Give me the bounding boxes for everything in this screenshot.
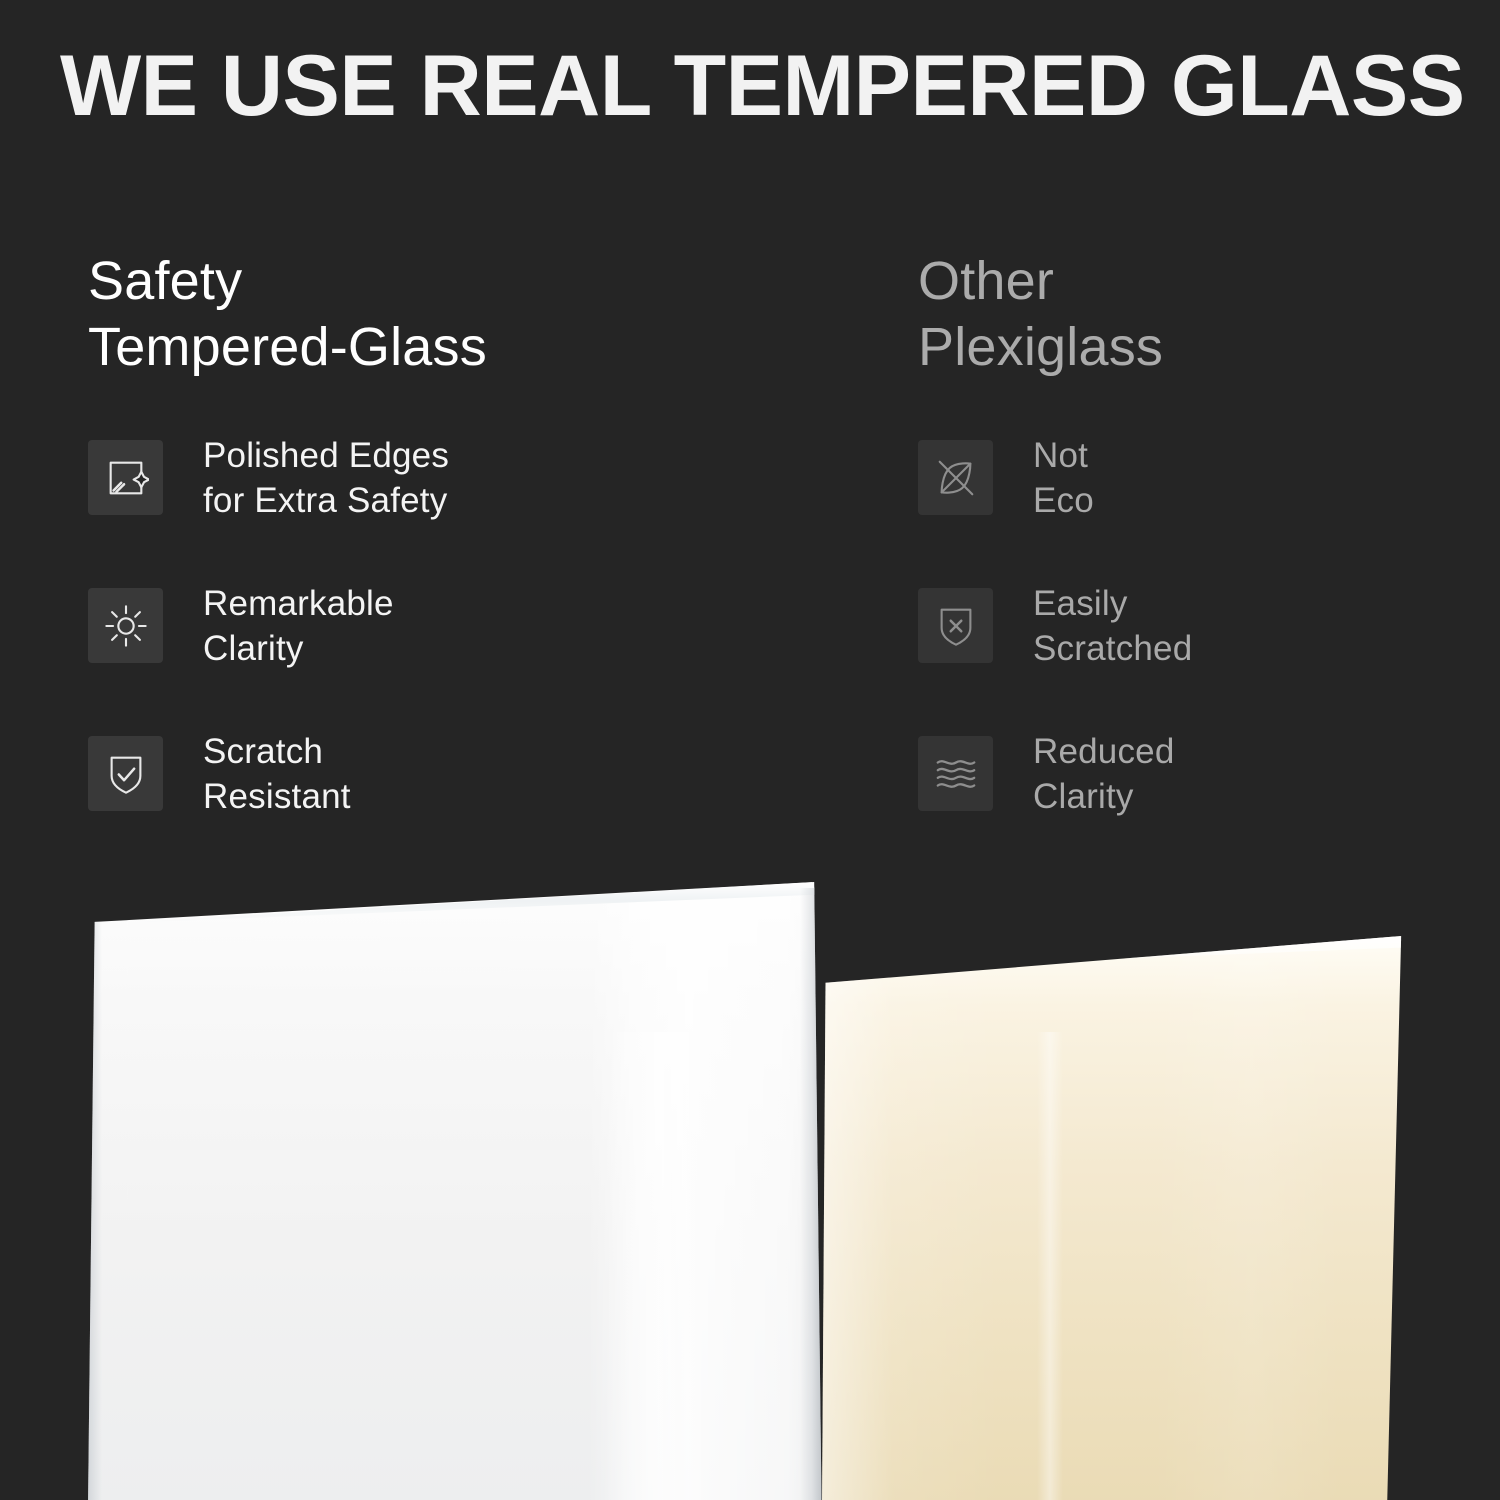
feature-row: Polished Edges for Extra Safety: [88, 440, 848, 515]
feature-row: Scratch Resistant: [88, 736, 848, 811]
infographic-canvas: WE USE REAL TEMPERED GLASS Safety Temper…: [0, 0, 1500, 1500]
feature-label: Not Eco: [1033, 433, 1094, 523]
sun-brightness-icon: [88, 588, 163, 663]
feature-row: Easily Scratched: [918, 588, 1478, 663]
comparison-column-plexiglass: Other Plexiglass Not Eco: [918, 248, 1478, 811]
glass-polished-top-edge: [96, 882, 822, 924]
feature-row: Remarkable Clarity: [88, 588, 848, 663]
feature-list-tempered-glass: Polished Edges for Extra Safety: [88, 440, 848, 811]
feature-row: Not Eco: [918, 440, 1478, 515]
polished-glass-sparkle-icon: [88, 440, 163, 515]
feature-list-plexiglass: Not Eco Easily Scratched: [918, 440, 1478, 811]
feature-label: Reduced Clarity: [1033, 729, 1175, 819]
feature-label: Easily Scratched: [1033, 581, 1192, 671]
comparison-column-tempered-glass: Safety Tempered-Glass Polished Edges for…: [88, 248, 848, 811]
glass-reflection-band: [604, 1032, 714, 1500]
feature-label: Polished Edges for Extra Safety: [203, 433, 449, 523]
column-heading-tempered-glass: Safety Tempered-Glass: [88, 248, 848, 380]
shield-x-icon: [918, 588, 993, 663]
page-title: WE USE REAL TEMPERED GLASS: [60, 38, 1460, 134]
leaf-crossed-out-icon: [918, 440, 993, 515]
wavy-lines-distortion-icon: [918, 736, 993, 811]
column-heading-plexiglass: Other Plexiglass: [918, 248, 1478, 380]
plexiglass-panel: [822, 936, 1407, 1500]
feature-row: Reduced Clarity: [918, 736, 1478, 811]
plexiglass-reflection-seam: [1037, 1032, 1063, 1500]
feature-label: Remarkable Clarity: [203, 581, 394, 671]
glass-right-bevel: [800, 888, 826, 1500]
plexiglass-top-edge-highlight: [828, 936, 1406, 970]
feature-label: Scratch Resistant: [203, 729, 351, 819]
product-comparison-photo: [0, 860, 1500, 1500]
tempered-glass-panel: [88, 882, 826, 1500]
glass-left-bevel: [88, 920, 102, 1500]
shield-check-icon: [88, 736, 163, 811]
